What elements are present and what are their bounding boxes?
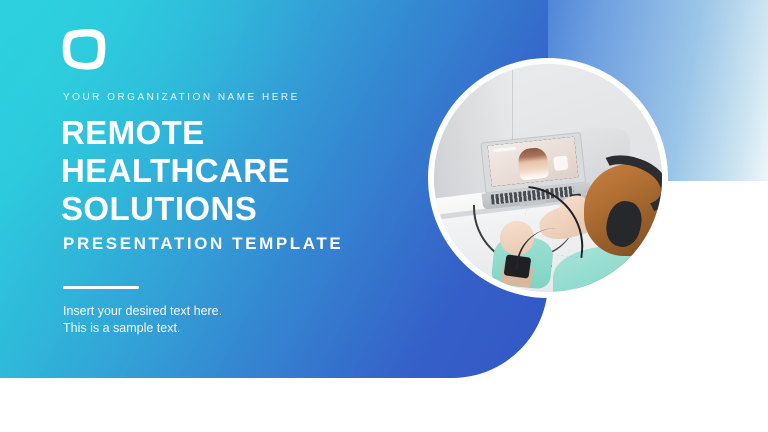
call-shelf [493,146,516,152]
body-text: Insert your desired text here. This is a… [63,303,222,337]
page-title: REMOTE HEALTHCARE SOLUTIONS [61,114,461,228]
title-line-1: REMOTE [61,114,461,152]
call-jar [552,156,568,171]
organization-name: YOUR ORGANIZATION NAME HERE [63,92,300,103]
doctor-on-screen [517,146,550,180]
photo-ring [428,58,668,298]
page-subtitle: PRESENTATION TEMPLATE [63,234,343,254]
title-line-2: HEALTHCARE [61,152,461,190]
body-line-1: Insert your desired text here. [63,303,222,320]
telehealth-photo [434,64,662,292]
organization-logo[interactable] [62,28,106,70]
title-line-3: SOLUTIONS [61,190,461,228]
video-call-feed [488,137,579,186]
divider-rule [63,286,139,289]
slide-canvas: YOUR ORGANIZATION NAME HERE REMOTE HEALT… [0,0,768,432]
laptop-screen [488,137,579,186]
photo-scene [434,64,662,292]
body-line-2: This is a sample text. [63,320,222,337]
